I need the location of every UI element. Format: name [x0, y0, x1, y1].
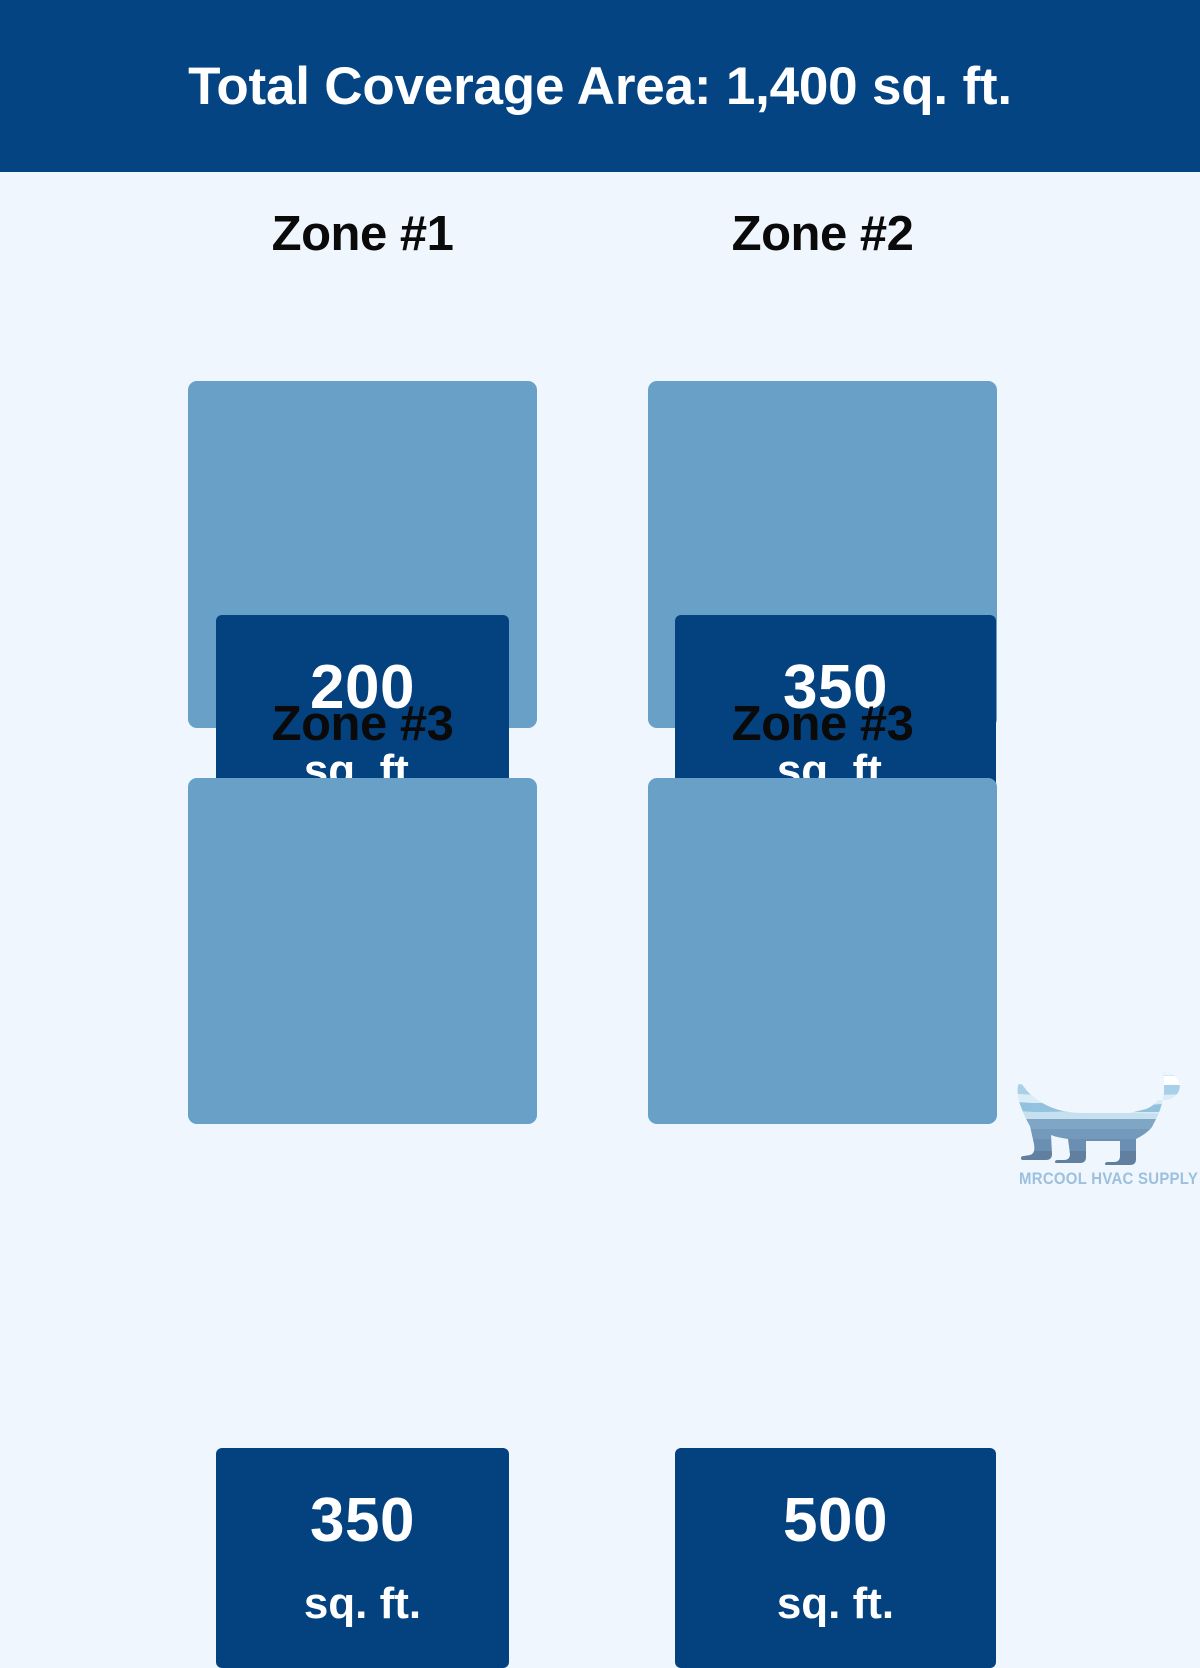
header-bar: Total Coverage Area: 1,400 sq. ft. — [0, 0, 1200, 172]
zone-card-3-unit: sq. ft. — [304, 1582, 421, 1626]
page-title: Total Coverage Area: 1,400 sq. ft. — [188, 56, 1012, 117]
polar-bear-icon — [1012, 1055, 1188, 1167]
zone-card-3-value: 350 — [310, 1490, 415, 1552]
zone-card-4-value: 500 — [783, 1490, 888, 1552]
logo-wordmark: MRCOOL HVAC SUPPLY — [1019, 1169, 1181, 1189]
brand-logo: MRCOOL HVAC SUPPLY — [1008, 1055, 1192, 1195]
zone-card-3[interactable]: Zone #3 350 sq. ft. — [188, 172, 537, 597]
zone-card-3-label: Zone #3 — [188, 700, 537, 749]
zone-card-4-unit: sq. ft. — [777, 1582, 894, 1626]
zone-card-4[interactable]: Zone #3 500 sq. ft. — [648, 172, 997, 597]
zone-card-4-label: Zone #3 — [648, 700, 997, 749]
zone-card-4-outer-area: 500 sq. ft. — [648, 778, 997, 1124]
zone-card-4-inner-area: 500 sq. ft. — [675, 1448, 996, 1668]
zones-grid: Zone #1 200 sq. ft. Zone #2 350 sq. ft. … — [0, 172, 1200, 1200]
zone-card-3-inner-area: 350 sq. ft. — [216, 1448, 509, 1668]
zone-card-3-outer-area: 350 sq. ft. — [188, 778, 537, 1124]
